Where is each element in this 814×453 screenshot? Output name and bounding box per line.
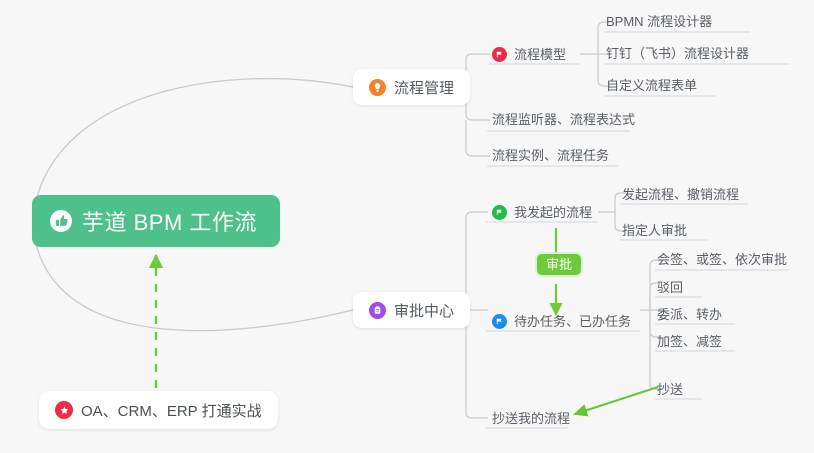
leaf-carbon-copy[interactable]: 抄送 [657, 383, 683, 402]
leaf-cc-to-me-processes[interactable]: 抄送我的流程 [492, 412, 570, 431]
flag-icon [492, 314, 507, 329]
star-icon [55, 401, 73, 419]
clipboard-icon [369, 302, 386, 319]
flag-icon [492, 47, 507, 62]
leaf-label-countersign-approval: 会签、或签、依次审批 [657, 253, 787, 267]
branch-label-process-management: 流程管理 [394, 77, 454, 98]
leaf-countersign-approval[interactable]: 会签、或签、依次审批 [657, 253, 787, 272]
branch-node-approval-center[interactable]: 审批中心 [353, 292, 470, 328]
leaf-process-model[interactable]: 流程模型 [492, 47, 566, 67]
leaf-dingtalk-feishu-designer[interactable]: 钉钉（飞书）流程设计器 [606, 47, 749, 66]
branch-label-approval-center: 审批中心 [394, 300, 454, 321]
thumbs-up-icon [50, 210, 72, 232]
lightbulb-icon [369, 79, 386, 96]
leaf-label-dingtalk-feishu-designer: 钉钉（飞书）流程设计器 [606, 47, 749, 61]
leaf-todo-done-tasks[interactable]: 待办任务、已办任务 [492, 314, 631, 334]
leaf-label-bpmn-designer: BPMN 流程设计器 [606, 15, 712, 29]
leaf-bpmn-designer[interactable]: BPMN 流程设计器 [606, 15, 712, 34]
branch-node-process-management[interactable]: 流程管理 [353, 69, 470, 105]
root-node[interactable]: 芋道 BPM 工作流 [32, 195, 280, 247]
leaf-label-reject: 驳回 [657, 281, 683, 295]
leaf-label-delegate-transfer: 委派、转办 [657, 308, 722, 322]
leaf-my-started-processes[interactable]: 我发起的流程 [492, 205, 592, 225]
leaf-label-start-cancel-process: 发起流程、撤销流程 [622, 188, 739, 202]
leaf-label-carbon-copy: 抄送 [657, 383, 683, 397]
leaf-process-instance-task[interactable]: 流程实例、流程任务 [492, 149, 609, 168]
leaf-label-add-remove-sign: 加签、减签 [657, 335, 722, 349]
flag-icon [492, 205, 507, 220]
label-oa-crm-erp-integration: OA、CRM、ERP 打通实战 [81, 400, 262, 421]
leaf-add-remove-sign[interactable]: 加签、减签 [657, 335, 722, 354]
approve-annotation-badge: 审批 [537, 254, 581, 275]
approve-annotation-label: 审批 [546, 257, 572, 272]
leaf-label-process-model: 流程模型 [514, 48, 566, 62]
leaf-label-process-instance-task: 流程实例、流程任务 [492, 149, 609, 163]
leaf-label-todo-done-tasks: 待办任务、已办任务 [514, 315, 631, 329]
leaf-label-process-listener-expression: 流程监听器、流程表达式 [492, 113, 635, 127]
leaf-label-custom-process-form: 自定义流程表单 [606, 79, 697, 93]
leaf-reject[interactable]: 驳回 [657, 281, 683, 300]
mindmap-canvas: 芋道 BPM 工作流 流程管理 流程模型 BPMN 流程设计器 钉钉（飞书）流程… [0, 0, 814, 453]
leaf-start-cancel-process[interactable]: 发起流程、撤销流程 [622, 188, 739, 207]
node-oa-crm-erp-integration[interactable]: OA、CRM、ERP 打通实战 [39, 391, 278, 429]
root-label: 芋道 BPM 工作流 [82, 205, 257, 237]
leaf-process-listener-expression[interactable]: 流程监听器、流程表达式 [492, 113, 635, 132]
leaf-delegate-transfer[interactable]: 委派、转办 [657, 308, 722, 327]
leaf-label-my-started-processes: 我发起的流程 [514, 206, 592, 220]
leaf-assigned-approver[interactable]: 指定人审批 [622, 224, 687, 243]
leaf-custom-process-form[interactable]: 自定义流程表单 [606, 79, 697, 98]
leaf-label-assigned-approver: 指定人审批 [622, 224, 687, 238]
leaf-label-cc-to-me-processes: 抄送我的流程 [492, 412, 570, 426]
